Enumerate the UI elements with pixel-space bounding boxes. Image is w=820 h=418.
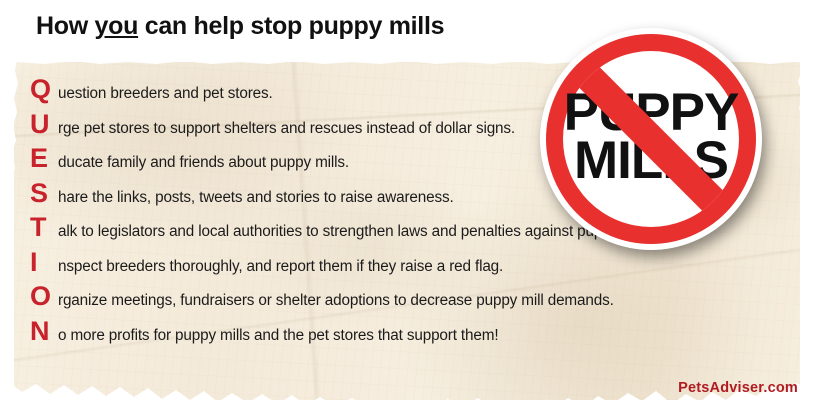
list-item-text: uestion breeders and pet stores. (58, 86, 273, 101)
list-item-text: hare the links, posts, tweets and storie… (58, 190, 454, 205)
prohibition-sign-icon: PUPPY MILLS (538, 26, 764, 252)
list-item-text: o more profits for puppy mills and the p… (58, 328, 498, 343)
acrostic-letter: Q (30, 76, 58, 103)
acrostic-letter: E (30, 145, 58, 172)
page-title-part2: can help stop puppy mills (138, 12, 444, 40)
list-item-text: nspect breeders thoroughly, and report t… (58, 259, 503, 274)
acrostic-letter: N (30, 318, 58, 345)
list-item: O rganize meetings, fundraisers or shelt… (30, 283, 730, 318)
acrostic-letter: I (30, 249, 58, 276)
infographic-canvas: How you can help stop puppy mills Q uest… (0, 0, 820, 418)
acrostic-letter: U (30, 111, 58, 138)
acrostic-letter: T (30, 214, 58, 241)
page-title: How you can help stop puppy mills (36, 12, 444, 41)
brand-watermark: PetsAdviser.com (678, 380, 798, 396)
acrostic-letter: S (30, 180, 58, 207)
page-title-emphasis: you (95, 12, 139, 40)
page-title-part1: How (36, 12, 95, 40)
list-item-text: ducate family and friends about puppy mi… (58, 155, 349, 170)
list-item: N o more profits for puppy mills and the… (30, 318, 730, 353)
no-puppy-mills-badge: PUPPY MILLS (538, 26, 764, 252)
list-item-text: rge pet stores to support shelters and r… (58, 121, 515, 136)
acrostic-letter: O (30, 283, 58, 310)
list-item-text: rganize meetings, fundraisers or shelter… (58, 293, 614, 308)
list-item: I nspect breeders thoroughly, and report… (30, 249, 730, 284)
